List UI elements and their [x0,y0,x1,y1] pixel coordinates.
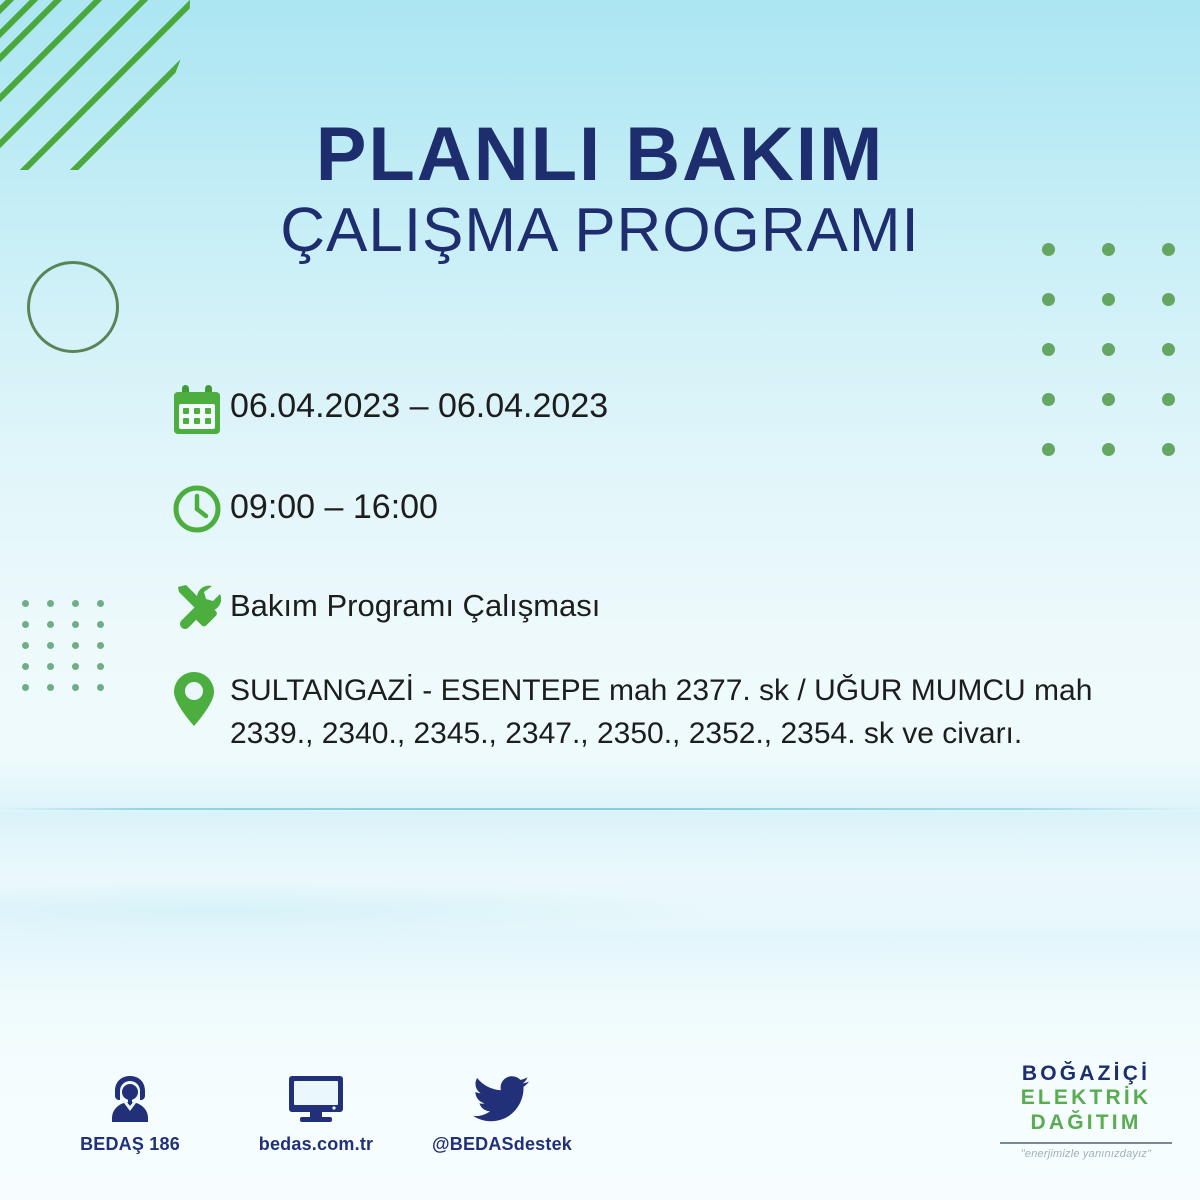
contact-website[interactable]: bedas.com.tr [246,1068,386,1155]
contact-list: BEDAŞ 186 bedas.com.tr @BEDASdestek [60,1068,572,1155]
calendar-icon [172,382,230,444]
location-line-2: 2339., 2340., 2345., 2347., 2350., 2352.… [230,713,1092,756]
brand-divider [1000,1142,1172,1144]
wave-band-lower [0,812,1200,882]
info-row-date: 06.04.2023 – 06.04.2023 [172,382,1132,444]
contact-phone-label: BEDAŞ 186 [60,1134,200,1155]
location-text: SULTANGAZİ - ESENTEPE mah 2377. sk / UĞU… [230,668,1092,755]
wave-band-bottom [0,930,1200,980]
info-row-location: SULTANGAZİ - ESENTEPE mah 2377. sk / UĞU… [172,668,1132,755]
contact-twitter-label: @BEDASdestek [432,1134,572,1155]
brand-line-2: ELEKTRİK [994,1086,1178,1110]
info-row-work-type: Bakım Programı Çalışması [172,580,1132,642]
info-row-time: 09:00 – 16:00 [172,482,1132,544]
brand-slogan: "enerjimizle yanınızdayız" [994,1148,1178,1160]
work-type-text: Bakım Programı Çalışması [230,580,600,626]
time-range-text: 09:00 – 16:00 [230,482,438,530]
contact-phone[interactable]: BEDAŞ 186 [60,1068,200,1155]
dot-grid-left [22,600,104,692]
clock-icon [172,482,230,544]
wave-divider-line [0,808,1200,810]
wave-band-upper [0,760,1200,812]
contact-website-label: bedas.com.tr [246,1134,386,1155]
poster-canvas: PLANLI BAKIM ÇALIŞMA PROGRAMI [0,0,1200,1200]
info-list: 06.04.2023 – 06.04.2023 09:00 – 16:00 [172,382,1132,755]
call-center-agent-icon [60,1068,200,1124]
title-main: PLANLI BAKIM [0,118,1200,192]
monitor-icon [246,1068,386,1124]
wave-blob-left [0,880,720,940]
location-pin-icon [172,668,230,730]
tools-icon [172,580,230,642]
brand-line-3: DAĞITIM [994,1111,1178,1135]
page-title: PLANLI BAKIM ÇALIŞMA PROGRAMI [0,118,1200,264]
date-range-text: 06.04.2023 – 06.04.2023 [230,382,608,429]
location-line-1: SULTANGAZİ - ESENTEPE mah 2377. sk / UĞU… [230,670,1092,713]
contact-twitter[interactable]: @BEDASdestek [432,1068,572,1155]
twitter-bird-icon [432,1068,572,1124]
brand-line-1: BOĞAZİÇİ [994,1062,1178,1086]
title-sub: ÇALIŞMA PROGRAMI [0,198,1200,263]
brand-logo: BOĞAZİÇİ ELEKTRİK DAĞITIM "enerjimizle y… [994,1062,1178,1160]
circle-outline-decoration [27,261,119,353]
